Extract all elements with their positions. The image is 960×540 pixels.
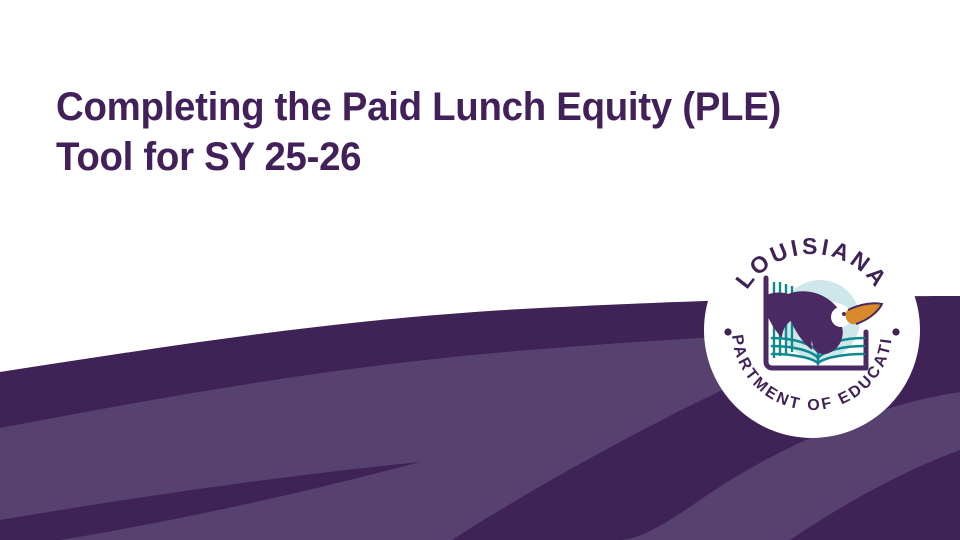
page-title: Completing the Paid Lunch Equity (PLE) T… [56,82,756,182]
pelican-eye [842,312,846,316]
title-slide: Completing the Paid Lunch Equity (PLE) T… [0,0,960,540]
seal-dot-right-icon [892,328,899,335]
seal-dot-left-icon [724,328,731,335]
louisiana-doe-logo: LOUISIANA DEPARTMENT OF EDUCATION [702,220,922,440]
title-line-1: Completing the Paid Lunch Equity (PLE) [56,82,728,132]
title-line-2: Tool for SY 25-26 [56,132,728,182]
